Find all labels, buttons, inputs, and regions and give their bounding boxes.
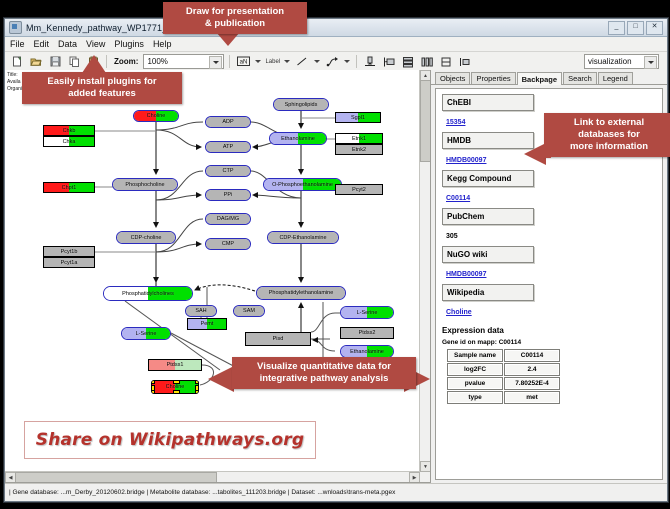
pathway-metabolite-node[interactable]: Sphingolipids <box>273 98 329 111</box>
zoom-label: Zoom: <box>114 57 138 66</box>
pathway-gene-node[interactable]: Ptdss1 <box>148 359 202 371</box>
close-button[interactable]: ✕ <box>646 21 663 35</box>
pathway-gene-node[interactable]: Ptdss2 <box>340 327 394 339</box>
pathway-metabolite-node[interactable]: Choline <box>151 380 199 394</box>
node-label: CTP <box>223 168 234 174</box>
align-left-icon[interactable] <box>381 54 397 70</box>
share-text: Share on Wikipathways.org <box>36 430 304 450</box>
visualization-value: visualization <box>588 57 632 66</box>
expr-key-pvalue: pvalue <box>447 377 503 390</box>
node-label: Etnk2 <box>352 147 366 153</box>
node-label: CDP-choline <box>131 235 162 241</box>
new-file-icon[interactable] <box>9 54 25 70</box>
db-value-pubchem: 305 <box>446 233 458 240</box>
node-label: CDP-Ethanolamine <box>279 235 326 241</box>
toolbar-separator-2 <box>229 55 230 68</box>
status-bar: | Gene database: ...m_Derby_20120602.bri… <box>5 483 667 501</box>
app-icon <box>9 21 22 34</box>
pathway-metabolite-node[interactable]: CTP <box>205 165 251 177</box>
pathway-metabolite-node[interactable]: Phosphatidylcholines <box>103 286 193 301</box>
node-label: Pcyt2 <box>352 187 366 193</box>
pathway-metabolite-node[interactable]: SAM <box>233 305 265 317</box>
expr-key-log2fc: log2FC <box>447 363 503 376</box>
expr-val-sample-name: C00114 <box>504 349 560 362</box>
menu-help[interactable]: Help <box>153 39 172 49</box>
visualization-combo[interactable]: visualization <box>584 54 659 69</box>
canvas-vertical-scrollbar[interactable]: ▲ ▼ <box>419 70 430 482</box>
canvas-horizontal-scrollbar[interactable]: ◀ ▶ <box>5 471 420 482</box>
callout-plugins-stem <box>88 66 100 76</box>
tab-legend[interactable]: Legend <box>598 72 633 84</box>
db-header-hmdb: HMDB <box>442 132 534 149</box>
pathway-gene-node[interactable]: Chka <box>43 136 95 147</box>
expr-val-log2fc: 2.4 <box>504 363 560 376</box>
maximize-button[interactable]: □ <box>627 21 644 35</box>
node-label: Sphingolipids <box>285 102 318 108</box>
pathway-gene-node[interactable]: Pcyt1b <box>43 246 95 257</box>
pathway-gene-node[interactable]: Pemt <box>187 318 227 330</box>
pathway-gene-node[interactable]: Pisd <box>245 332 311 346</box>
node-label: Pcyt1b <box>61 249 78 255</box>
save-file-icon[interactable] <box>47 54 63 70</box>
pathway-gene-node[interactable]: Etnk2 <box>335 144 383 155</box>
menu-edit[interactable]: Edit <box>34 39 50 49</box>
node-label: Chkb <box>63 128 76 134</box>
tab-search[interactable]: Search <box>563 72 597 84</box>
interaction-icon[interactable] <box>324 54 340 70</box>
node-label: SAM <box>243 308 255 314</box>
window-buttons: _ □ ✕ <box>608 21 663 35</box>
line-chevron-icon[interactable] <box>313 55 321 69</box>
node-label: Pcyt1a <box>61 260 78 266</box>
callout-visualize: Visualize quantitative data for integrat… <box>232 357 416 389</box>
db-header-nugo: NuGO wiki <box>442 246 534 263</box>
menu-view[interactable]: View <box>86 39 105 49</box>
node-label: Pemt <box>201 321 214 327</box>
node-label: Phosphatidylcholines <box>122 291 174 297</box>
db-header-wikipedia: Wikipedia <box>442 284 534 301</box>
db-link-chebi[interactable]: 15354 <box>446 119 465 126</box>
expression-table: Sample name C00114 log2FC 2.4 pvalue 7.8… <box>446 348 561 405</box>
menu-data[interactable]: Data <box>58 39 77 49</box>
node-label: Ethanolamine <box>350 349 384 355</box>
node-label: ADP <box>222 119 233 125</box>
line-icon[interactable] <box>294 54 310 70</box>
screenshot-root: Mm_Kennedy_pathway_WP1771_45176.gpml _ □… <box>0 0 670 509</box>
scroll-down-icon[interactable]: ▼ <box>420 461 431 472</box>
toolbar-separator <box>106 55 107 68</box>
label-tool-label[interactable]: Label <box>265 59 280 65</box>
pathway-metabolite-node[interactable]: SAH <box>185 305 217 317</box>
node-label: Ptdss2 <box>359 330 376 336</box>
callout-link: Link to external databases for more info… <box>544 113 670 157</box>
db-header-pubchem: PubChem <box>442 208 534 225</box>
side-panel-tabs: Objects Properties Backpage Search Legen… <box>431 70 667 85</box>
expr-val-pvalue: 7.80252E-4 <box>504 377 560 390</box>
callout-visualize-arrow-left <box>208 366 234 392</box>
pathway-gene-node[interactable]: Etnk1 <box>335 133 383 144</box>
pathway-metabolite-node[interactable]: Phosphocholine <box>112 178 178 191</box>
pathway-metabolite-node[interactable]: DAG/MG <box>205 213 251 225</box>
minimize-button[interactable]: _ <box>608 21 625 35</box>
pathway-metabolite-node[interactable]: Choline <box>133 110 179 122</box>
db-link-hmdb[interactable]: HMDB00097 <box>446 157 486 164</box>
label-chevron-icon[interactable] <box>283 55 291 69</box>
tab-objects[interactable]: Objects <box>435 72 470 84</box>
zoom-value: 100% <box>147 57 167 66</box>
callout-share: Share on Wikipathways.org <box>24 421 316 459</box>
datanode-icon[interactable]: aN <box>235 54 251 70</box>
node-label: Choline <box>147 113 166 119</box>
node-label: Chpt1 <box>62 185 77 191</box>
canvas-vscroll-thumb[interactable] <box>420 80 431 162</box>
expr-val-type: met <box>504 391 560 404</box>
node-label: PPi <box>224 192 233 198</box>
db-link-kegg[interactable]: C00114 <box>446 195 470 202</box>
node-label: DAG/MG <box>217 216 239 222</box>
pathway-metabolite-node[interactable]: CMP <box>205 238 251 250</box>
node-label: Choline <box>166 384 185 390</box>
gene-id-on-mapp: Gene id on mapp: C00114 <box>442 339 662 346</box>
node-label: Phosphocholine <box>125 182 164 188</box>
stack-icon[interactable] <box>400 54 416 70</box>
pathway-metabolite-node[interactable]: CDP-Ethanolamine <box>267 231 339 244</box>
zoom-combo[interactable]: 100% <box>143 54 224 69</box>
pathway-metabolite-node[interactable]: PPi <box>205 189 251 201</box>
chevron-down-icon[interactable] <box>209 56 222 69</box>
db-link-wikipedia[interactable]: Choline <box>446 309 472 316</box>
node-label: Ptdss1 <box>167 362 184 368</box>
tab-backpage[interactable]: Backpage <box>517 72 562 85</box>
title-bar: Mm_Kennedy_pathway_WP1771_45176.gpml _ □… <box>5 19 667 37</box>
pathway-gene-node[interactable]: Sgpl1 <box>335 112 381 123</box>
svg-text:aN: aN <box>240 60 248 66</box>
db-header-kegg: Kegg Compound <box>442 170 534 187</box>
size-icon[interactable] <box>438 54 454 70</box>
node-label: Sgpl1 <box>351 115 365 121</box>
scroll-right-icon[interactable]: ▶ <box>409 472 420 483</box>
canvas-hscroll-thumb[interactable] <box>15 472 217 483</box>
node-label: CMP <box>222 241 234 247</box>
expr-key-sample-name: Sample name <box>447 349 503 362</box>
node-label: Pisd <box>273 336 284 342</box>
table-row: log2FC 2.4 <box>447 363 560 376</box>
copy-icon[interactable] <box>66 54 82 70</box>
db-header-chebi: ChEBI <box>442 94 534 111</box>
pathway-metabolite-node[interactable]: L-Serine <box>340 306 394 319</box>
open-file-icon[interactable] <box>28 54 44 70</box>
pathway-gene-node[interactable]: Pcyt2 <box>335 184 383 195</box>
callout-link-stem <box>543 146 551 158</box>
node-label: ATP <box>223 144 233 150</box>
pathway-metabolite-node[interactable]: Phosphatidylethanolamine <box>256 286 346 300</box>
node-label: Phosphatidylethanolamine <box>269 290 334 296</box>
pathway-gene-node[interactable]: Chpt1 <box>43 182 95 193</box>
node-label: L-Serine <box>357 310 378 316</box>
align-bottom-icon[interactable] <box>362 54 378 70</box>
order-icon[interactable] <box>457 54 473 70</box>
pathway-metabolite-node[interactable]: Ethanolamine <box>269 132 327 145</box>
toolbar-separator-3 <box>356 55 357 68</box>
expression-data-heading: Expression data <box>442 326 662 335</box>
node-label: L-Serine <box>136 331 157 337</box>
node-label: Ethanolamine <box>281 136 315 142</box>
expr-key-type: type <box>447 391 503 404</box>
db-link-nugo[interactable]: HMDB00097 <box>446 271 486 278</box>
pathway-metabolite-node[interactable]: CDP-choline <box>116 231 176 244</box>
menu-bar: File Edit Data View Plugins Help <box>5 37 667 52</box>
table-row: pvalue 7.80252E-4 <box>447 377 560 390</box>
node-label: Etnk1 <box>352 136 366 142</box>
node-label: Chka <box>63 139 76 145</box>
pathway-metabolite-node[interactable]: ATP <box>205 141 251 153</box>
pathway-metabolite-node[interactable]: ADP <box>205 116 251 128</box>
table-row: Sample name C00114 <box>447 349 560 362</box>
pathway-gene-node[interactable]: Chkb <box>43 125 95 136</box>
callout-draw-arrow <box>216 32 240 46</box>
table-row: type met <box>447 391 560 404</box>
interaction-chevron-icon[interactable] <box>343 55 351 69</box>
status-text: | Gene database: ...m_Derby_20120602.bri… <box>9 489 395 496</box>
menu-file[interactable]: File <box>10 39 25 49</box>
menu-plugins[interactable]: Plugins <box>114 39 144 49</box>
node-label: SAH <box>195 308 206 314</box>
pathway-gene-node[interactable]: Pcyt1a <box>43 257 95 268</box>
callout-draw: Draw for presentation & publication <box>163 2 307 34</box>
node-label: O-Phosphoethanolamine <box>272 182 333 188</box>
datanode-chevron-icon[interactable] <box>254 55 262 69</box>
callout-plugins: Easily install plugins for added feature… <box>22 72 182 104</box>
distribute-icon[interactable] <box>419 54 435 70</box>
pathway-metabolite-node[interactable]: L-Serine <box>121 327 171 340</box>
visualization-chevron-down-icon[interactable] <box>644 56 657 69</box>
pathway-metabolite-node[interactable]: O-Phosphoethanolamine <box>263 178 342 191</box>
tab-properties[interactable]: Properties <box>471 72 515 84</box>
